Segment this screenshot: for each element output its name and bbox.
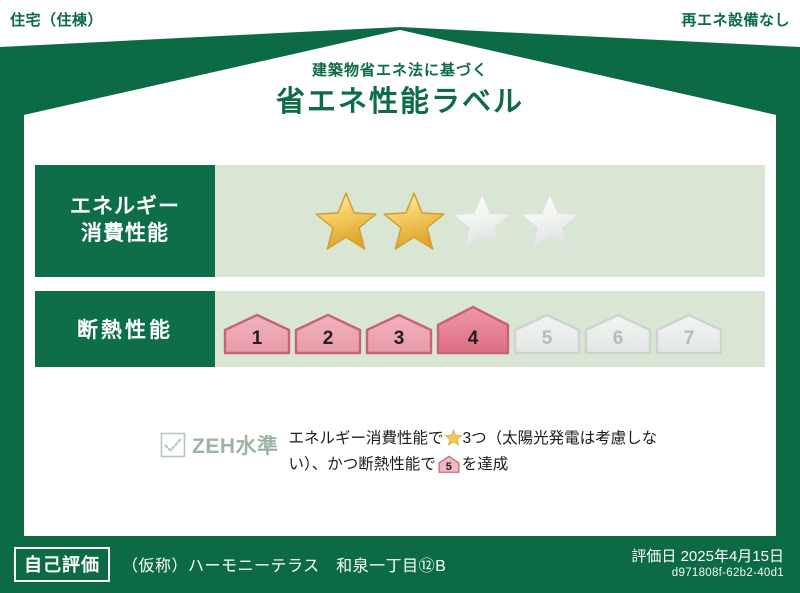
document-id: d971808f-62b2-40d1 bbox=[631, 566, 784, 581]
zeh-standard-block: ZEH水準 エネルギー消費性能で3つ（太陽光発電は考慮しない）、かつ断熱性能で5… bbox=[160, 424, 680, 477]
badge-house-type: 住宅（住棟） bbox=[0, 4, 115, 34]
zeh-desc-part1: エネルギー消費性能で bbox=[289, 430, 444, 447]
title-subtitle: 建築物省エネ法に基づく bbox=[0, 62, 800, 80]
insulation-level-2: 2 bbox=[294, 313, 362, 355]
star-icon-4 bbox=[519, 191, 581, 251]
zeh-desc-part2: 3つ（太陽光発電 bbox=[463, 430, 580, 447]
zeh-description: エネルギー消費性能で3つ（太陽光発電は考慮しない）、かつ断熱性能で5を達成 bbox=[289, 424, 681, 477]
title-block: 建築物省エネ法に基づく 省エネ性能ラベル bbox=[0, 62, 800, 122]
footer-bar: 自己評価 （仮称）ハーモニーテラス 和泉一丁目⑫B 評価日 2025年4月15日… bbox=[0, 535, 800, 593]
star-icon-3 bbox=[451, 191, 513, 251]
page-title: 省エネ性能ラベル bbox=[0, 83, 800, 122]
insulation-level-scale: 1234567 bbox=[215, 291, 765, 367]
footer-meta: 評価日 2025年4月15日 d971808f-62b2-40d1 bbox=[631, 547, 784, 581]
insulation-level-5: 5 bbox=[513, 313, 581, 355]
house-shape-icon bbox=[365, 313, 433, 355]
star-icon-1 bbox=[315, 191, 377, 251]
insulation-level-3: 3 bbox=[365, 313, 433, 355]
house-shape-icon bbox=[294, 313, 362, 355]
insulation-performance-row: 断熱性能 1234567 bbox=[35, 291, 765, 367]
zeh-desc-part4: を達成 bbox=[462, 456, 509, 473]
energy-star-rating bbox=[215, 165, 765, 277]
zeh-label: ZEH水準 bbox=[192, 430, 279, 460]
badge-renewable-equipment: 再エネ設備なし bbox=[669, 4, 800, 34]
insulation-level-1: 1 bbox=[223, 313, 291, 355]
badge-renewable-label: 再エネ設備なし bbox=[681, 9, 790, 30]
house-shape-icon bbox=[223, 313, 291, 355]
energy-performance-row: エネルギー 消費性能 bbox=[35, 165, 765, 277]
building-name: （仮称）ハーモニーテラス 和泉一丁目⑫B bbox=[122, 552, 446, 576]
energy-label-line1: エネルギー bbox=[70, 194, 180, 221]
insulation-label-text: 断熱性能 bbox=[77, 314, 173, 344]
evaluation-date: 評価日 2025年4月15日 bbox=[631, 547, 784, 567]
house-shape-icon bbox=[436, 305, 510, 355]
house-shape-icon bbox=[655, 313, 723, 355]
house-icon-inline-number: 5 bbox=[438, 462, 460, 473]
house-shape-icon bbox=[513, 313, 581, 355]
star-icon-inline bbox=[445, 429, 462, 446]
insulation-level-4: 4 bbox=[436, 305, 510, 355]
insulation-level-6: 6 bbox=[584, 313, 652, 355]
self-evaluation-badge: 自己評価 bbox=[14, 547, 110, 582]
energy-label-card: 住宅（住棟） 再エネ設備なし 建築物省エネ法に基づく 省エネ性能ラベル エネルギ… bbox=[0, 0, 800, 593]
house-shape-icon bbox=[584, 313, 652, 355]
checkbox-check-icon bbox=[160, 432, 186, 458]
insulation-performance-label: 断熱性能 bbox=[35, 291, 215, 367]
energy-performance-label: エネルギー 消費性能 bbox=[35, 165, 215, 277]
star-icon-2 bbox=[383, 191, 445, 251]
badge-house-type-label: 住宅（住棟） bbox=[10, 9, 103, 30]
house-icon-inline: 5 bbox=[438, 455, 460, 473]
zeh-badge: ZEH水準 bbox=[160, 424, 279, 460]
insulation-level-7: 7 bbox=[655, 313, 723, 355]
energy-label-line2: 消費性能 bbox=[81, 221, 169, 248]
